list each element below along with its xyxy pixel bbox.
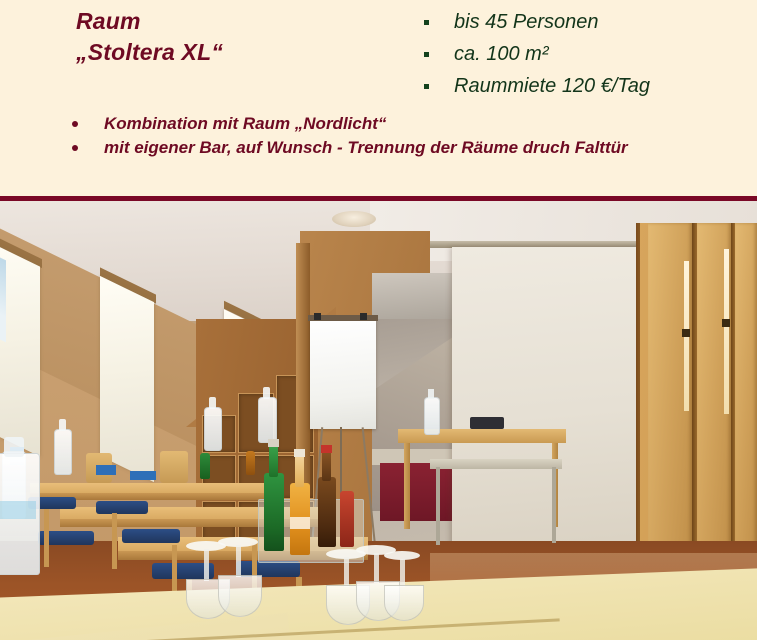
side-table-leg xyxy=(552,467,556,543)
skylight-sky-view xyxy=(0,250,6,343)
adjoining-room-red-furniture xyxy=(380,463,458,521)
bottle-neck xyxy=(263,387,270,399)
spec-item-capacity: bis 45 Personen xyxy=(420,6,750,38)
flipchart-clip xyxy=(360,313,367,320)
table-decor xyxy=(96,465,116,475)
water-bottle xyxy=(204,407,222,451)
feature-item-bar: mit eigener Bar, auf Wunsch - Trennung d… xyxy=(68,136,757,160)
bottle-neck xyxy=(269,445,278,477)
spec-label: ca. 100 m² xyxy=(454,43,548,65)
bullet-square-icon xyxy=(424,20,429,25)
feature-label: mit eigener Bar, auf Wunsch - Trennung d… xyxy=(104,138,628,157)
skylight-window xyxy=(0,239,40,456)
wine-glass-stem xyxy=(204,549,209,581)
bottle-cap xyxy=(268,439,279,447)
room-title-line-1: Raum xyxy=(76,6,406,37)
green-bottle xyxy=(200,453,210,479)
bottle-neck xyxy=(428,389,434,399)
wine-glass-stem xyxy=(236,545,241,577)
projection-screen xyxy=(452,247,644,547)
folding-door-light-strip xyxy=(724,249,729,414)
spec-item-area: ca. 100 m² xyxy=(420,38,750,70)
room-photo xyxy=(0,201,757,640)
ceiling-lamp xyxy=(332,211,376,227)
red-drink-bottle xyxy=(340,491,354,547)
bottle-label xyxy=(290,517,310,529)
bottle-neck xyxy=(59,419,66,431)
side-table-leg xyxy=(436,467,440,545)
wine-glass-stem xyxy=(374,553,379,583)
bottle-cap xyxy=(294,449,305,457)
large-bottle-neck xyxy=(4,437,24,457)
spec-label: Raummiete 120 €/Tag xyxy=(454,75,650,97)
wine-glass-bowl xyxy=(384,585,424,621)
bullet-square-icon xyxy=(424,84,429,89)
wine-glass-bowl xyxy=(218,575,262,617)
chair-back xyxy=(160,451,188,483)
water-bottle xyxy=(258,397,277,443)
brochure-page: Raum „Stoltera XL“ bis 45 Personen ca. 1… xyxy=(0,0,757,640)
water-bottle xyxy=(54,429,72,475)
bullet-dot-icon xyxy=(72,121,78,127)
chair-seat xyxy=(96,501,148,514)
folding-door-handle xyxy=(682,329,690,337)
dark-folder xyxy=(470,417,504,429)
side-table-top xyxy=(430,459,562,469)
folding-door-handle xyxy=(722,319,730,327)
chair-seat xyxy=(122,529,180,543)
wine-glass-stem xyxy=(344,557,349,587)
flipchart-clip xyxy=(314,313,321,320)
feature-label: Kombination mit Raum „Nordlicht“ xyxy=(104,114,386,133)
room-features-list: Kombination mit Raum „Nordlicht“ mit eig… xyxy=(68,112,757,160)
bullet-square-icon xyxy=(424,52,429,57)
folding-door-panel xyxy=(735,223,757,553)
chair-leg xyxy=(44,509,49,567)
feature-item-combination: Kombination mit Raum „Nordlicht“ xyxy=(68,112,757,136)
chair-leg xyxy=(172,545,177,597)
bottle-neck xyxy=(295,455,304,487)
skylight-window xyxy=(100,276,154,482)
water-bottle xyxy=(424,397,440,435)
page-title: Raum „Stoltera XL“ xyxy=(76,6,406,68)
bullet-dot-icon xyxy=(72,145,78,151)
chair-leg xyxy=(112,513,117,569)
room-specs-list: bis 45 Personen ca. 100 m² Raummiete 120… xyxy=(420,6,750,102)
bottle-cap xyxy=(321,445,332,453)
bottle-neck xyxy=(322,451,331,481)
room-title-line-2: „Stoltera XL“ xyxy=(76,37,406,68)
spec-label: bis 45 Personen xyxy=(454,11,599,33)
juice-bottle xyxy=(246,451,255,475)
wine-glass-stem xyxy=(400,559,405,587)
bottle-label xyxy=(0,501,36,519)
bottle-neck xyxy=(209,397,216,409)
back-table-leg xyxy=(404,443,410,529)
cola-bottle xyxy=(318,477,336,547)
green-bottle xyxy=(264,473,284,551)
table-decor xyxy=(130,471,156,480)
flipchart-paper xyxy=(310,319,376,429)
spec-item-price: Raummiete 120 €/Tag xyxy=(420,70,750,102)
header-text-block: Raum „Stoltera XL“ bis 45 Personen ca. 1… xyxy=(0,0,757,198)
